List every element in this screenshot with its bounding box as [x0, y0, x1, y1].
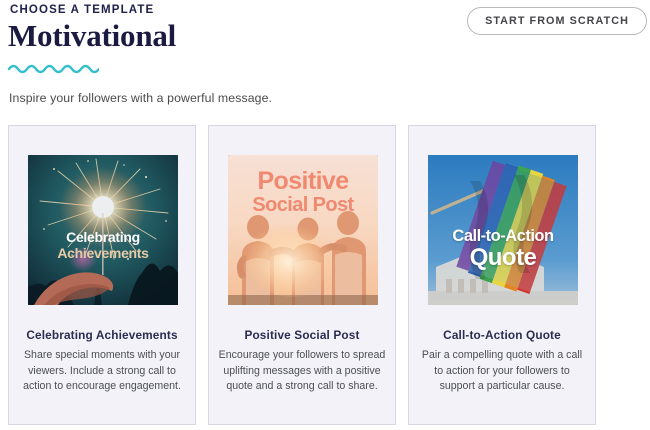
card-description: Pair a compelling quote with a call to a…: [418, 348, 586, 395]
template-thumbnail-friends-sunset-icon[interactable]: Positive Social Post: [228, 155, 378, 305]
eyebrow-label: CHOOSE A TEMPLATE: [10, 4, 154, 16]
wavy-line-divider-icon: [7, 60, 99, 74]
card-title: Positive Social Post: [213, 328, 391, 342]
card-description: Share special moments with your viewers.…: [18, 348, 186, 395]
template-thumbnail-sparkler-icon[interactable]: Celebrating Achievements: [28, 155, 178, 305]
start-from-scratch-button[interactable]: START FROM SCRATCH: [467, 7, 647, 35]
template-card-call-to-action-quote[interactable]: Call-to-Action Quote Call-to-Action Quot…: [408, 125, 596, 425]
card-description: Encourage your followers to spread uplif…: [218, 348, 386, 395]
template-card-celebrating-achievements[interactable]: Celebrating Achievements Celebrating Ach…: [8, 125, 196, 425]
card-title: Call-to-Action Quote: [413, 328, 591, 342]
template-card-positive-social-post[interactable]: Positive Social Post Positive Social Pos…: [208, 125, 396, 425]
page-title: Motivational: [8, 18, 176, 54]
card-title: Celebrating Achievements: [13, 328, 191, 342]
template-card-grid: Celebrating Achievements Celebrating Ach…: [8, 125, 608, 425]
page-header: CHOOSE A TEMPLATE Motivational Inspire y…: [0, 0, 650, 118]
template-thumbnail-rainbow-flag-icon[interactable]: Call-to-Action Quote: [428, 155, 578, 305]
page-subtitle: Inspire your followers with a powerful m…: [9, 91, 272, 105]
